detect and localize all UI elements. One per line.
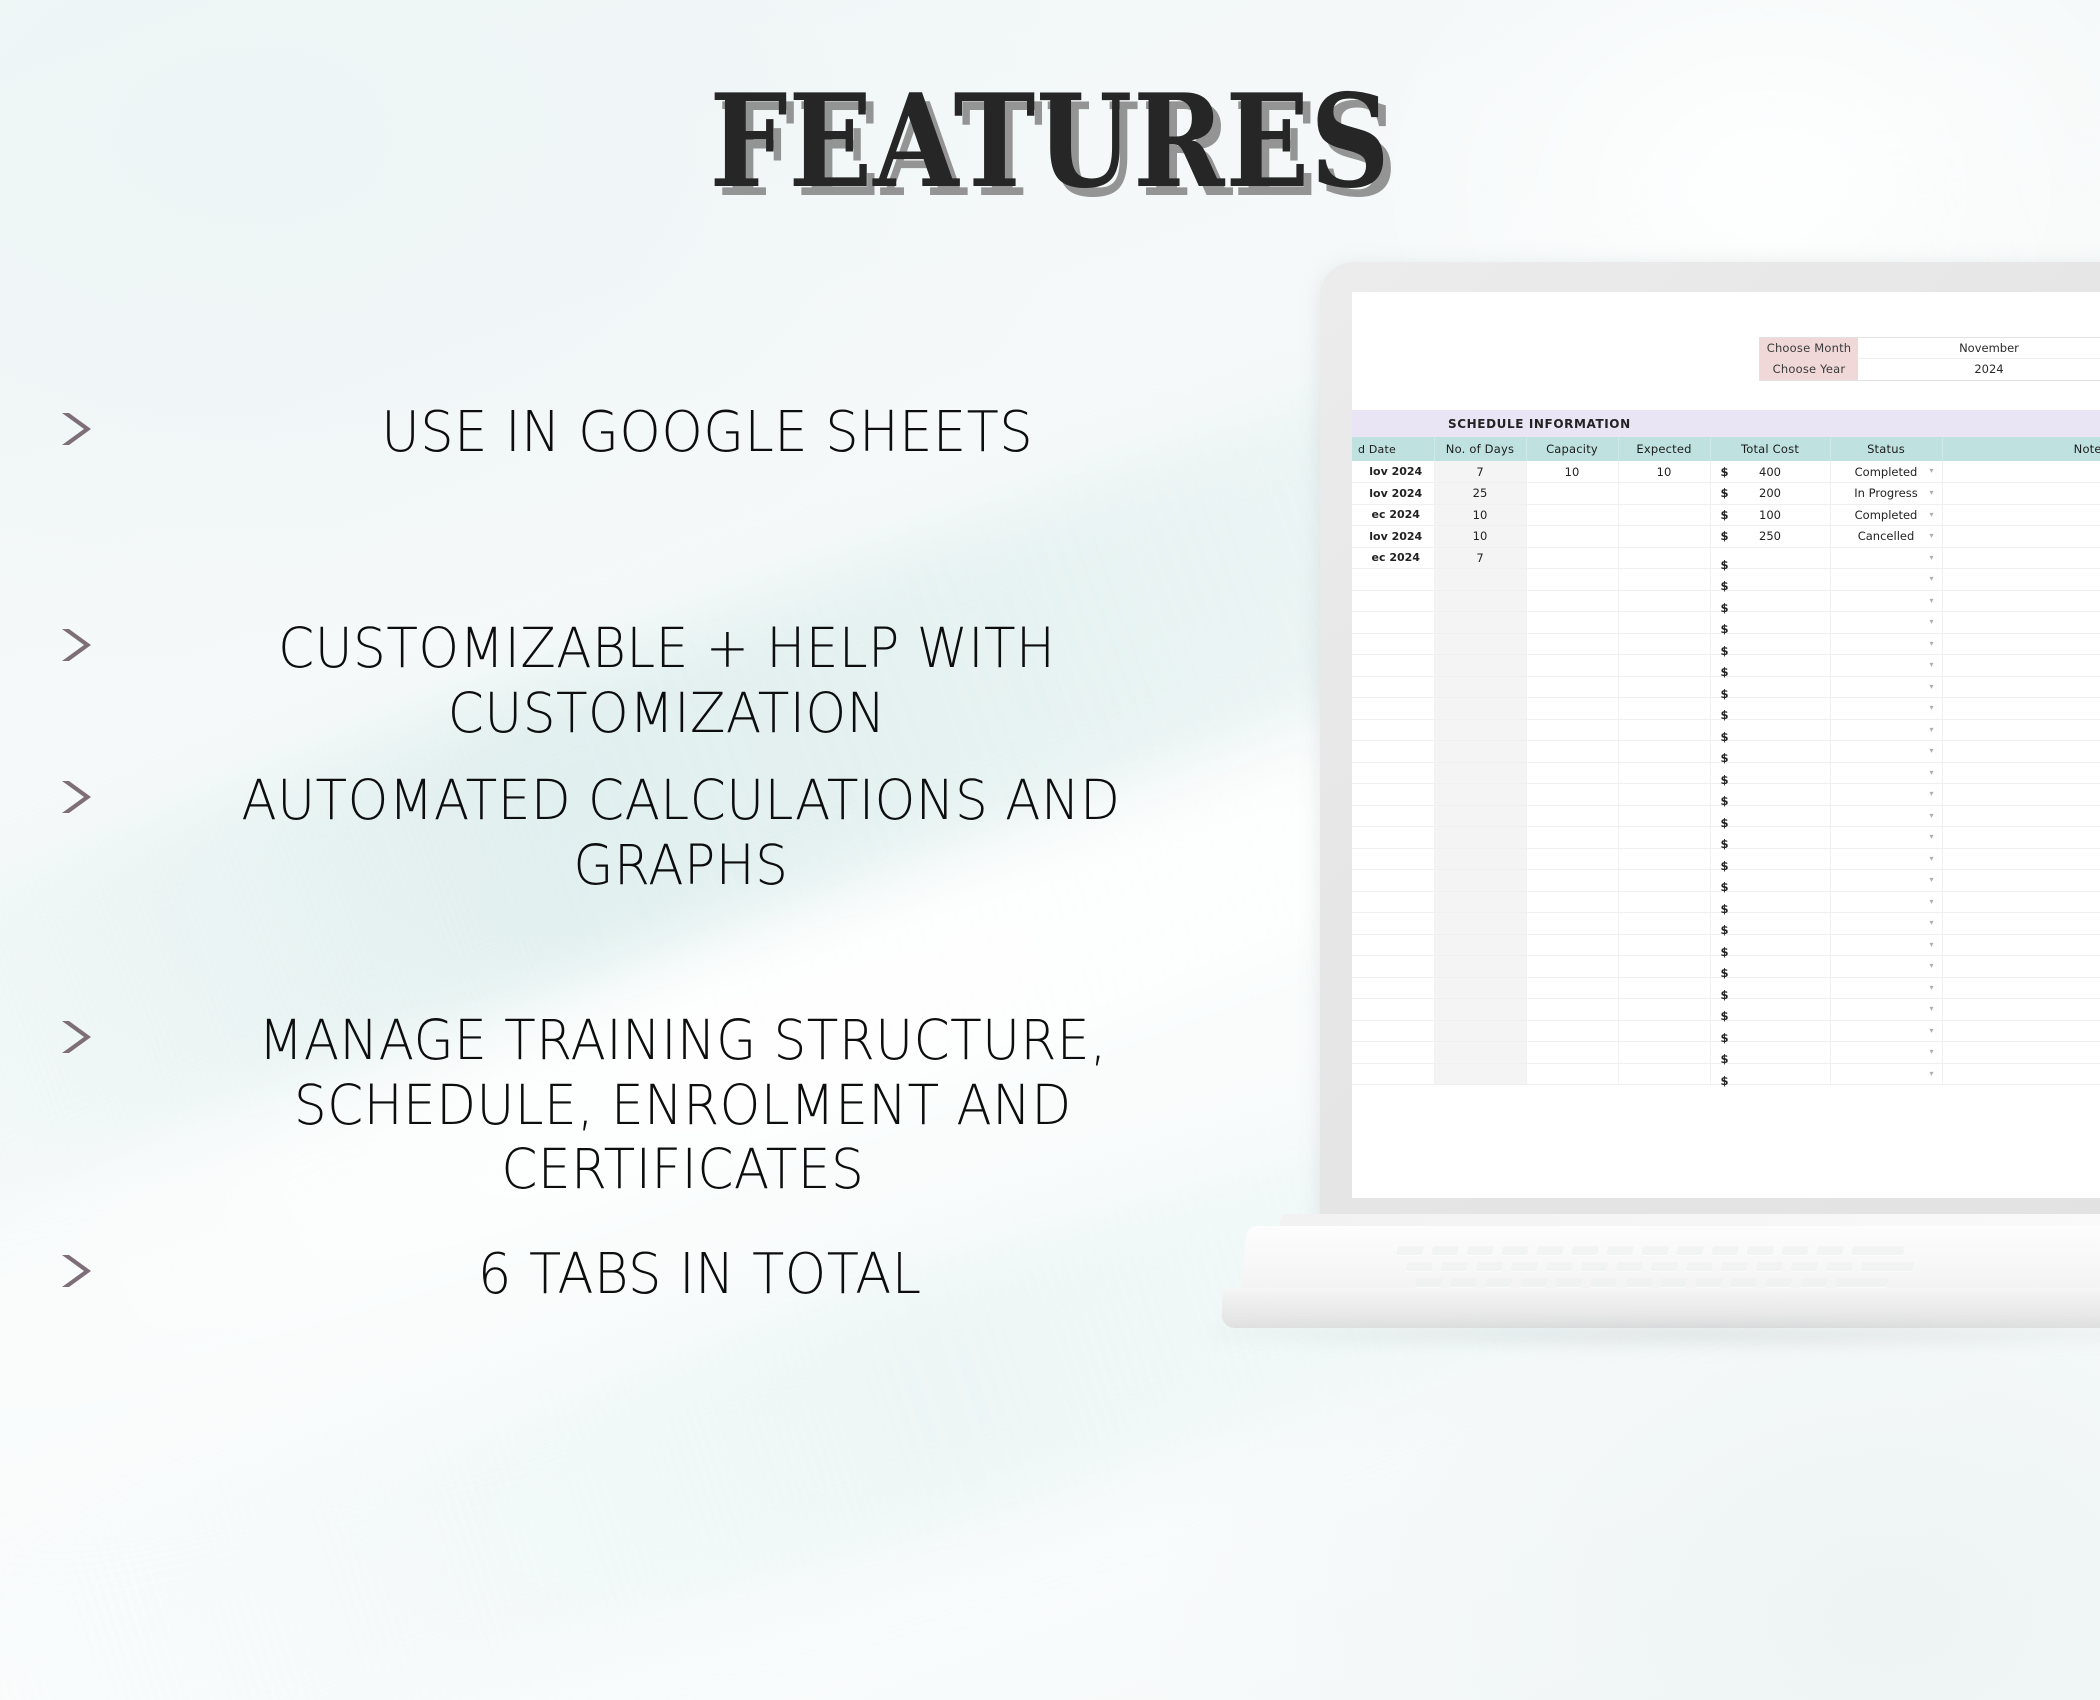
cell-end-date[interactable] — [1352, 934, 1434, 956]
cell-days[interactable] — [1434, 719, 1526, 741]
column-header-status[interactable]: Status — [1830, 437, 1942, 461]
chevron-down-icon[interactable]: ▾ — [1929, 940, 1933, 949]
cell-end-date[interactable]: lov 2024 — [1352, 461, 1434, 483]
keyboard-key[interactable] — [1555, 1278, 1583, 1287]
keyboard-key[interactable] — [1625, 1278, 1653, 1287]
schedule-table: d Date No. of Days Capacity Expected Tot… — [1352, 437, 2100, 1085]
cell-notes[interactable] — [1942, 1042, 2100, 1064]
cell-expected[interactable] — [1618, 1042, 1710, 1064]
cell-status[interactable]: ▾ — [1830, 1020, 1942, 1042]
table-row: $▾ — [1352, 1020, 2100, 1042]
cell-days[interactable]: 10 — [1434, 504, 1526, 526]
chevron-down-icon[interactable]: ▾ — [1929, 725, 1933, 734]
section-banner: SCHEDULE INFORMATION — [1352, 410, 2100, 437]
keyboard-key[interactable] — [1835, 1278, 1889, 1287]
chevron-down-icon[interactable]: ▾ — [1929, 531, 1933, 540]
cell-status[interactable]: ▾ — [1830, 848, 1942, 870]
keyboard-key[interactable] — [1746, 1246, 1774, 1255]
cell-capacity[interactable] — [1526, 999, 1618, 1021]
keyboard-key[interactable] — [1695, 1278, 1723, 1287]
cell-days[interactable] — [1434, 590, 1526, 612]
chevron-down-icon[interactable]: ▾ — [1929, 768, 1933, 777]
chevron-down-icon[interactable]: ▾ — [1929, 746, 1933, 755]
cell-status[interactable]: ▾ — [1830, 741, 1942, 763]
cell-expected[interactable] — [1618, 547, 1710, 569]
keyboard-key[interactable] — [1615, 1262, 1643, 1271]
cell-end-date[interactable] — [1352, 1063, 1434, 1085]
cell-capacity[interactable] — [1526, 827, 1618, 849]
column-header-expected[interactable]: Expected — [1618, 437, 1710, 461]
cell-notes[interactable] — [1942, 827, 2100, 849]
chevron-down-icon[interactable]: ▾ — [1929, 1069, 1933, 1078]
table-row: $▾ — [1352, 891, 2100, 913]
table-header-row: d Date No. of Days Capacity Expected Tot… — [1352, 437, 2100, 461]
cell-total-cost[interactable]: $ — [1710, 741, 1830, 763]
cell-end-date[interactable] — [1352, 762, 1434, 784]
cell-end-date[interactable] — [1352, 977, 1434, 999]
keyboard-key[interactable] — [1676, 1246, 1704, 1255]
feature-line: CERTIFICATES — [143, 1137, 1222, 1202]
cell-total-cost[interactable]: $ — [1710, 1063, 1830, 1085]
cell-capacity[interactable] — [1526, 762, 1618, 784]
keyboard-key[interactable] — [1520, 1278, 1548, 1287]
cell-status[interactable]: ▾ — [1830, 827, 1942, 849]
feature-line: CUSTOMIZABLE + HELP WITH — [143, 616, 1190, 681]
keyboard-key[interactable] — [1440, 1262, 1468, 1271]
month-dropdown[interactable]: November ▾ — [1858, 338, 2100, 359]
cell-expected[interactable] — [1618, 483, 1710, 505]
cell-notes[interactable] — [1942, 762, 2100, 784]
table-row: $▾ — [1352, 977, 2100, 999]
cell-notes[interactable] — [1942, 1063, 2100, 1085]
cell-total-cost[interactable]: $ — [1710, 569, 1830, 591]
cell-total-cost[interactable]: $ — [1710, 977, 1830, 999]
chevron-down-icon[interactable]: ▾ — [1929, 983, 1933, 992]
keyboard-key[interactable] — [1781, 1246, 1809, 1255]
year-dropdown[interactable]: 2024 ▾ — [1858, 359, 2100, 380]
cell-total-cost[interactable]: $400 — [1710, 461, 1830, 483]
column-header-end-date[interactable]: d Date — [1352, 437, 1434, 461]
cell-capacity[interactable] — [1526, 1042, 1618, 1064]
cell-end-date[interactable] — [1352, 719, 1434, 741]
chevron-down-icon[interactable]: ▾ — [1929, 553, 1933, 562]
cell-capacity[interactable] — [1526, 934, 1618, 956]
cell-capacity[interactable] — [1526, 784, 1618, 806]
cell-status[interactable]: ▾ — [1830, 934, 1942, 956]
cell-capacity[interactable] — [1526, 977, 1618, 999]
keyboard-key[interactable] — [1851, 1246, 1905, 1255]
cell-capacity[interactable] — [1526, 504, 1618, 526]
cell-total-cost[interactable]: $ — [1710, 676, 1830, 698]
chevron-down-icon[interactable]: ▾ — [1929, 682, 1933, 691]
cell-expected[interactable] — [1618, 956, 1710, 978]
cell-notes[interactable] — [1942, 590, 2100, 612]
cell-end-date[interactable]: ec 2024 — [1352, 504, 1434, 526]
cell-notes[interactable] — [1942, 848, 2100, 870]
cell-capacity[interactable] — [1526, 956, 1618, 978]
chevron-right-icon — [52, 622, 108, 668]
cell-expected[interactable] — [1618, 612, 1710, 634]
chevron-down-icon[interactable]: ▾ — [1929, 811, 1933, 820]
cell-expected[interactable] — [1618, 827, 1710, 849]
chevron-down-icon[interactable]: ▾ — [1929, 703, 1933, 712]
cell-status[interactable]: ▾ — [1830, 891, 1942, 913]
cell-status[interactable]: ▾ — [1830, 676, 1942, 698]
cell-days[interactable] — [1434, 891, 1526, 913]
chevron-down-icon[interactable]: ▾ — [1929, 466, 1933, 475]
cell-days[interactable] — [1434, 1042, 1526, 1064]
cell-total-cost[interactable]: $ — [1710, 655, 1830, 677]
cell-total-cost[interactable]: $ — [1710, 956, 1830, 978]
cell-total-cost[interactable]: $250 — [1710, 526, 1830, 548]
keyboard-key[interactable] — [1405, 1262, 1433, 1271]
keyboard-key[interactable] — [1816, 1246, 1844, 1255]
keyboard-key[interactable] — [1501, 1246, 1529, 1255]
cell-capacity[interactable] — [1526, 1063, 1618, 1085]
cell-expected[interactable] — [1618, 633, 1710, 655]
cell-expected[interactable] — [1618, 805, 1710, 827]
cell-status[interactable]: ▾ — [1830, 1063, 1942, 1085]
cell-end-date[interactable] — [1352, 698, 1434, 720]
cell-expected[interactable] — [1618, 870, 1710, 892]
cell-expected[interactable] — [1618, 1063, 1710, 1085]
cell-days[interactable] — [1434, 612, 1526, 634]
cell-notes[interactable] — [1942, 891, 2100, 913]
cell-status[interactable]: ▾ — [1830, 590, 1942, 612]
keyboard-key[interactable] — [1800, 1278, 1828, 1287]
cell-end-date[interactable] — [1352, 1042, 1434, 1064]
cell-expected[interactable] — [1618, 762, 1710, 784]
keyboard-key[interactable] — [1571, 1246, 1599, 1255]
cell-capacity[interactable] — [1526, 526, 1618, 548]
cell-capacity[interactable] — [1526, 848, 1618, 870]
keyboard-key[interactable] — [1450, 1278, 1478, 1287]
cell-expected[interactable] — [1618, 891, 1710, 913]
chevron-down-icon[interactable]: ▾ — [1929, 488, 1933, 497]
cell-end-date[interactable] — [1352, 612, 1434, 634]
keyboard-key[interactable] — [1860, 1262, 1914, 1271]
cell-status[interactable]: Completed▾ — [1830, 461, 1942, 483]
cell-capacity[interactable] — [1526, 1020, 1618, 1042]
cell-end-date[interactable] — [1352, 999, 1434, 1021]
cell-expected[interactable] — [1618, 741, 1710, 763]
cell-notes[interactable] — [1942, 633, 2100, 655]
keyboard-key[interactable] — [1510, 1262, 1538, 1271]
cell-notes[interactable] — [1942, 784, 2100, 806]
cell-days[interactable] — [1434, 633, 1526, 655]
cell-status[interactable]: ▾ — [1830, 977, 1942, 999]
cell-days[interactable] — [1434, 569, 1526, 591]
table-row: $▾ — [1352, 827, 2100, 849]
cell-end-date[interactable]: lov 2024 — [1352, 483, 1434, 505]
chevron-down-icon[interactable]: ▾ — [1929, 660, 1933, 669]
cell-notes[interactable] — [1942, 1020, 2100, 1042]
cell-total-cost[interactable]: $ — [1710, 891, 1830, 913]
cell-total-cost[interactable]: $200 — [1710, 483, 1830, 505]
chevron-down-icon[interactable]: ▾ — [1929, 596, 1933, 605]
column-header-days[interactable]: No. of Days — [1434, 437, 1526, 461]
keyboard-key[interactable] — [1790, 1262, 1818, 1271]
cell-status[interactable]: ▾ — [1830, 870, 1942, 892]
table-row: lov 202410$250Cancelled▾ — [1352, 526, 2100, 548]
cell-status[interactable]: ▾ — [1830, 956, 1942, 978]
cell-total-cost[interactable]: $ — [1710, 1042, 1830, 1064]
cell-capacity[interactable] — [1526, 633, 1618, 655]
cell-expected[interactable] — [1618, 698, 1710, 720]
cell-notes[interactable] — [1942, 934, 2100, 956]
cell-status[interactable]: ▾ — [1830, 655, 1942, 677]
cell-capacity[interactable] — [1526, 891, 1618, 913]
cell-notes[interactable] — [1942, 913, 2100, 935]
cell-capacity[interactable] — [1526, 612, 1618, 634]
cell-notes[interactable] — [1942, 612, 2100, 634]
cell-end-date[interactable] — [1352, 655, 1434, 677]
cell-total-cost[interactable]: $ — [1710, 999, 1830, 1021]
cell-end-date[interactable]: ec 2024 — [1352, 547, 1434, 569]
cell-total-cost[interactable]: $ — [1710, 870, 1830, 892]
chevron-down-icon[interactable]: ▾ — [1929, 510, 1933, 519]
cell-days[interactable]: 10 — [1434, 526, 1526, 548]
keyboard-key[interactable] — [1685, 1262, 1713, 1271]
cell-notes[interactable] — [1942, 956, 2100, 978]
cell-capacity[interactable] — [1526, 655, 1618, 677]
cell-notes[interactable] — [1942, 504, 2100, 526]
cell-expected[interactable] — [1618, 977, 1710, 999]
column-header-notes[interactable]: Notes — [1942, 437, 2100, 461]
cell-total-cost[interactable]: $ — [1710, 913, 1830, 935]
cell-total-cost[interactable]: $ — [1710, 1020, 1830, 1042]
column-header-total-cost[interactable]: Total Cost — [1710, 437, 1830, 461]
cell-end-date[interactable] — [1352, 913, 1434, 935]
chevron-down-icon[interactable]: ▾ — [1929, 897, 1933, 906]
cell-expected[interactable] — [1618, 504, 1710, 526]
chevron-down-icon[interactable]: ▾ — [1929, 854, 1933, 863]
keyboard-key[interactable] — [1660, 1278, 1688, 1287]
cell-end-date[interactable] — [1352, 805, 1434, 827]
keyboard-key[interactable] — [1590, 1278, 1618, 1287]
cell-days[interactable] — [1434, 999, 1526, 1021]
cell-days[interactable] — [1434, 784, 1526, 806]
cell-status[interactable]: ▾ — [1830, 999, 1942, 1021]
cell-expected[interactable] — [1618, 913, 1710, 935]
cell-status[interactable]: ▾ — [1830, 1042, 1942, 1064]
cell-status[interactable]: ▾ — [1830, 762, 1942, 784]
cell-days[interactable] — [1434, 956, 1526, 978]
cell-total-cost[interactable]: $ — [1710, 547, 1830, 569]
cell-total-cost[interactable]: $ — [1710, 633, 1830, 655]
cell-notes[interactable] — [1942, 698, 2100, 720]
currency-symbol: $ — [1721, 486, 1729, 500]
cell-expected[interactable] — [1618, 719, 1710, 741]
cell-status[interactable]: ▾ — [1830, 633, 1942, 655]
chevron-down-icon[interactable]: ▾ — [1929, 789, 1933, 798]
cell-status[interactable]: ▾ — [1830, 569, 1942, 591]
cell-expected[interactable] — [1618, 848, 1710, 870]
cell-total-cost[interactable]: $ — [1710, 934, 1830, 956]
cell-notes[interactable] — [1942, 526, 2100, 548]
cell-expected[interactable] — [1618, 590, 1710, 612]
cell-capacity[interactable]: 10 — [1526, 461, 1618, 483]
cell-end-date[interactable] — [1352, 741, 1434, 763]
cell-days[interactable] — [1434, 741, 1526, 763]
cell-days[interactable]: 7 — [1434, 461, 1526, 483]
cell-total-cost[interactable]: $ — [1710, 848, 1830, 870]
chevron-down-icon[interactable]: ▾ — [1929, 961, 1933, 970]
chevron-down-icon[interactable]: ▾ — [1929, 617, 1933, 626]
keyboard-key[interactable] — [1711, 1246, 1739, 1255]
cell-notes[interactable] — [1942, 676, 2100, 698]
cell-days[interactable]: 25 — [1434, 483, 1526, 505]
cell-total-cost[interactable]: $ — [1710, 698, 1830, 720]
cell-capacity[interactable] — [1526, 870, 1618, 892]
keyboard-key[interactable] — [1825, 1262, 1853, 1271]
keyboard-key[interactable] — [1396, 1246, 1424, 1255]
chevron-down-icon[interactable]: ▾ — [1929, 875, 1933, 884]
cell-notes[interactable] — [1942, 569, 2100, 591]
cell-status[interactable]: ▾ — [1830, 913, 1942, 935]
cell-days[interactable] — [1434, 870, 1526, 892]
cell-days[interactable] — [1434, 676, 1526, 698]
cell-days[interactable] — [1434, 848, 1526, 870]
cell-days[interactable]: 7 — [1434, 547, 1526, 569]
cell-end-date[interactable] — [1352, 848, 1434, 870]
cell-end-date[interactable] — [1352, 633, 1434, 655]
chevron-down-icon[interactable]: ▾ — [1929, 574, 1933, 583]
laptop-lid: Choose Month Choose Year November ▾ 2024 — [1320, 262, 2100, 1224]
chevron-down-icon[interactable]: ▾ — [1929, 1026, 1933, 1035]
cell-total-cost[interactable]: $ — [1710, 590, 1830, 612]
keyboard-key[interactable] — [1606, 1246, 1634, 1255]
cell-capacity[interactable] — [1526, 698, 1618, 720]
cell-end-date[interactable] — [1352, 784, 1434, 806]
cell-total-cost[interactable]: $ — [1710, 827, 1830, 849]
cell-notes[interactable] — [1942, 870, 2100, 892]
cell-expected[interactable] — [1618, 1020, 1710, 1042]
keyboard-key[interactable] — [1580, 1262, 1608, 1271]
column-header-capacity[interactable]: Capacity — [1526, 437, 1618, 461]
cell-total-cost[interactable]: $100 — [1710, 504, 1830, 526]
cell-capacity[interactable] — [1526, 590, 1618, 612]
table-row: $▾ — [1352, 633, 2100, 655]
keyboard-key[interactable] — [1755, 1262, 1783, 1271]
table-row: $▾ — [1352, 848, 2100, 870]
table-row: $▾ — [1352, 784, 2100, 806]
cell-capacity[interactable] — [1526, 913, 1618, 935]
chevron-down-icon[interactable]: ▾ — [1929, 1047, 1933, 1056]
cell-notes[interactable] — [1942, 741, 2100, 763]
cell-expected[interactable] — [1618, 655, 1710, 677]
cell-days[interactable] — [1434, 827, 1526, 849]
keyboard-key[interactable] — [1730, 1278, 1758, 1287]
cell-end-date[interactable] — [1352, 590, 1434, 612]
chevron-right-icon — [52, 1014, 108, 1060]
cell-status[interactable]: Cancelled▾ — [1830, 526, 1942, 548]
cell-notes[interactable] — [1942, 719, 2100, 741]
cell-notes[interactable] — [1942, 483, 2100, 505]
chevron-down-icon[interactable]: ▾ — [1929, 1004, 1933, 1013]
cell-expected[interactable] — [1618, 569, 1710, 591]
cell-total-cost[interactable]: $ — [1710, 719, 1830, 741]
cell-notes[interactable] — [1942, 977, 2100, 999]
cell-status[interactable]: ▾ — [1830, 698, 1942, 720]
cell-expected[interactable] — [1618, 676, 1710, 698]
cell-capacity[interactable] — [1526, 719, 1618, 741]
cell-status[interactable]: ▾ — [1830, 805, 1942, 827]
cell-days[interactable] — [1434, 913, 1526, 935]
chevron-down-icon[interactable]: ▾ — [1929, 918, 1933, 927]
cell-expected[interactable] — [1618, 999, 1710, 1021]
keyboard-key[interactable] — [1545, 1262, 1573, 1271]
cell-days[interactable] — [1434, 977, 1526, 999]
cell-days[interactable] — [1434, 1063, 1526, 1085]
keyboard-key[interactable] — [1641, 1246, 1669, 1255]
cell-end-date[interactable] — [1352, 1020, 1434, 1042]
cell-notes[interactable] — [1942, 999, 2100, 1021]
cell-end-date[interactable] — [1352, 569, 1434, 591]
keyboard-key[interactable] — [1466, 1246, 1494, 1255]
cell-notes[interactable] — [1942, 805, 2100, 827]
cell-expected[interactable]: 10 — [1618, 461, 1710, 483]
cell-total-cost[interactable]: $ — [1710, 762, 1830, 784]
chevron-down-icon[interactable]: ▾ — [1929, 832, 1933, 841]
cell-days[interactable] — [1434, 1020, 1526, 1042]
cell-status[interactable]: Completed▾ — [1830, 504, 1942, 526]
cell-end-date[interactable] — [1352, 956, 1434, 978]
cell-notes[interactable] — [1942, 461, 2100, 483]
cell-status[interactable]: ▾ — [1830, 612, 1942, 634]
cell-notes[interactable] — [1942, 655, 2100, 677]
cell-status[interactable]: ▾ — [1830, 719, 1942, 741]
keyboard-key[interactable] — [1765, 1278, 1793, 1287]
keyboard-key[interactable] — [1720, 1262, 1748, 1271]
cell-days[interactable] — [1434, 655, 1526, 677]
cell-end-date[interactable]: lov 2024 — [1352, 526, 1434, 548]
keyboard-key[interactable] — [1431, 1246, 1459, 1255]
keyboard-key[interactable] — [1485, 1278, 1513, 1287]
cell-end-date[interactable] — [1352, 891, 1434, 913]
cell-capacity[interactable] — [1526, 805, 1618, 827]
table-row: $▾ — [1352, 1063, 2100, 1085]
cell-days[interactable] — [1434, 934, 1526, 956]
cell-end-date[interactable] — [1352, 870, 1434, 892]
cell-capacity[interactable] — [1526, 547, 1618, 569]
keyboard-key[interactable] — [1415, 1278, 1443, 1287]
keyboard-key[interactable] — [1475, 1262, 1503, 1271]
cell-capacity[interactable] — [1526, 483, 1618, 505]
cell-total-cost[interactable]: $ — [1710, 805, 1830, 827]
cell-status[interactable]: In Progress▾ — [1830, 483, 1942, 505]
cell-end-date[interactable] — [1352, 676, 1434, 698]
cell-capacity[interactable] — [1526, 676, 1618, 698]
cell-days[interactable] — [1434, 762, 1526, 784]
chevron-down-icon[interactable]: ▾ — [1929, 639, 1933, 648]
cell-expected[interactable] — [1618, 934, 1710, 956]
cell-days[interactable] — [1434, 805, 1526, 827]
cell-capacity[interactable] — [1526, 741, 1618, 763]
cell-total-cost[interactable]: $ — [1710, 784, 1830, 806]
cell-days[interactable] — [1434, 698, 1526, 720]
cell-capacity[interactable] — [1526, 569, 1618, 591]
cell-total-cost[interactable]: $ — [1710, 612, 1830, 634]
cell-notes[interactable] — [1942, 547, 2100, 569]
keyboard-key[interactable] — [1650, 1262, 1678, 1271]
cell-status[interactable]: ▾ — [1830, 784, 1942, 806]
cell-status[interactable]: ▾ — [1830, 547, 1942, 569]
cell-expected[interactable] — [1618, 526, 1710, 548]
cell-expected[interactable] — [1618, 784, 1710, 806]
keyboard-key[interactable] — [1536, 1246, 1564, 1255]
cell-end-date[interactable] — [1352, 827, 1434, 849]
